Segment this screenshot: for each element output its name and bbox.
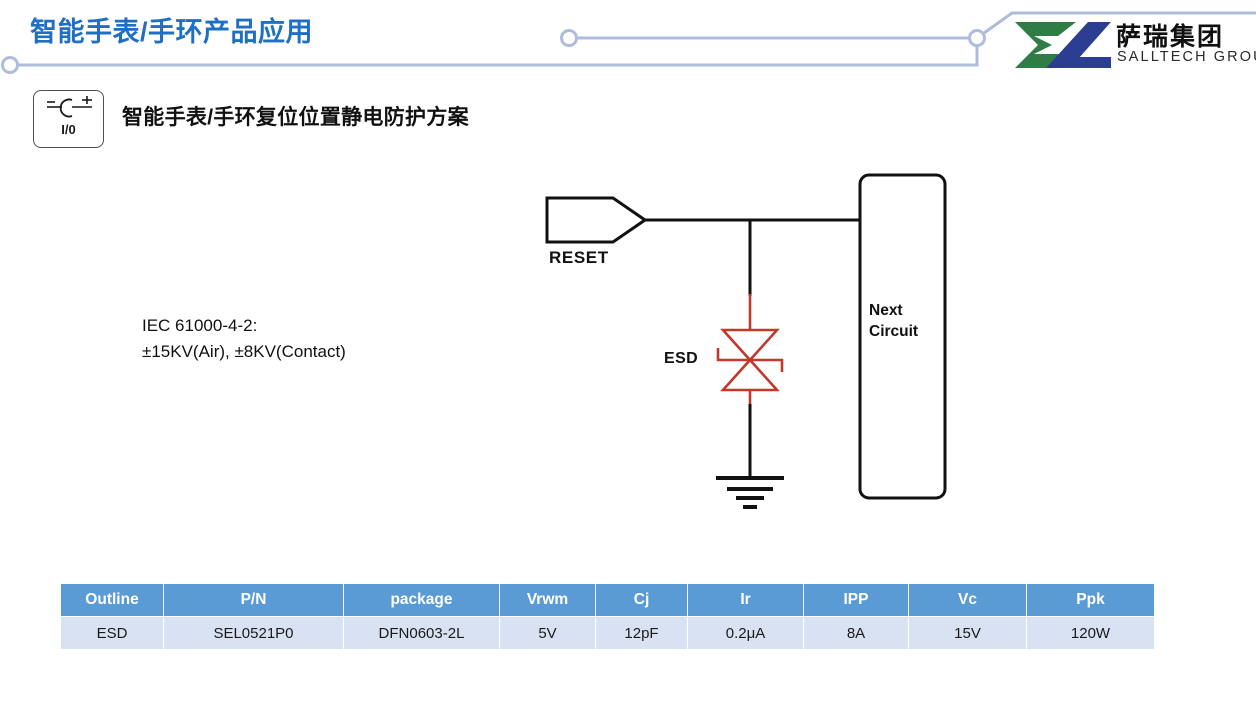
iec-note-line2: ±15KV(Air), ±8KV(Contact) [142, 342, 346, 361]
reset-label: RESET [549, 248, 609, 268]
next-circuit-label: Next Circuit [869, 300, 918, 342]
io-badge-label: I/0 [34, 122, 103, 137]
esd-label: ESD [664, 350, 698, 368]
tvs-lower-triangle [723, 360, 777, 390]
logo-name-en: SALLTECH GROUP [1117, 49, 1256, 65]
cell-ppk: 120W [1027, 617, 1155, 650]
logo-mark-icon [1012, 19, 1112, 71]
slide-canvas: 智能手表/手环产品应用 萨瑞集团 SALLTECH GROUP [0, 0, 1256, 704]
cell-vc: 15V [909, 617, 1027, 650]
io-port-icon [34, 91, 105, 125]
page-title: 智能手表/手环产品应用 [30, 10, 313, 49]
table-col-vc: Vc [909, 584, 1027, 617]
table-col-ipp: IPP [804, 584, 909, 617]
reset-connector-shape [547, 198, 645, 242]
table-header-row: Outline P/N package Vrwm Cj Ir IPP Vc Pp… [61, 584, 1155, 617]
table-col-pn: P/N [164, 584, 344, 617]
company-logo: 萨瑞集团 SALLTECH GROUP [1012, 16, 1244, 76]
cell-pn: SEL0521P0 [164, 617, 344, 650]
table-col-outline: Outline [61, 584, 164, 617]
table-col-ppk: Ppk [1027, 584, 1155, 617]
iec-standard-note: IEC 61000-4-2: ±15KV(Air), ±8KV(Contact) [142, 313, 346, 365]
cell-package: DFN0603-2L [344, 617, 500, 650]
next-circuit-label-line2: Circuit [869, 323, 918, 340]
logo-wordmark: 萨瑞集团 SALLTECH GROUP [1116, 16, 1246, 74]
section-heading: 智能手表/手环复位位置静电防护方案 [122, 101, 469, 131]
table-col-vrwm: Vrwm [500, 584, 596, 617]
table-row: ESD SEL0521P0 DFN0603-2L 5V 12pF 0.2μA 8… [61, 617, 1155, 650]
cell-ir: 0.2μA [688, 617, 804, 650]
table-col-cj: Cj [596, 584, 688, 617]
logo-name-cn: 萨瑞集团 [1116, 17, 1224, 53]
next-circuit-label-line1: Next [869, 302, 903, 319]
cell-cj: 12pF [596, 617, 688, 650]
cell-vrwm: 5V [500, 617, 596, 650]
table-col-package: package [344, 584, 500, 617]
table-col-ir: Ir [688, 584, 804, 617]
tvs-cathode-bar [718, 348, 782, 372]
iec-note-line1: IEC 61000-4-2: [142, 316, 257, 335]
ground-icon [716, 478, 784, 507]
spec-table: Outline P/N package Vrwm Cj Ir IPP Vc Pp… [60, 583, 1155, 650]
cell-outline: ESD [61, 617, 164, 650]
io-port-badge: I/0 [33, 90, 104, 148]
cell-ipp: 8A [804, 617, 909, 650]
tvs-upper-triangle [723, 330, 777, 360]
